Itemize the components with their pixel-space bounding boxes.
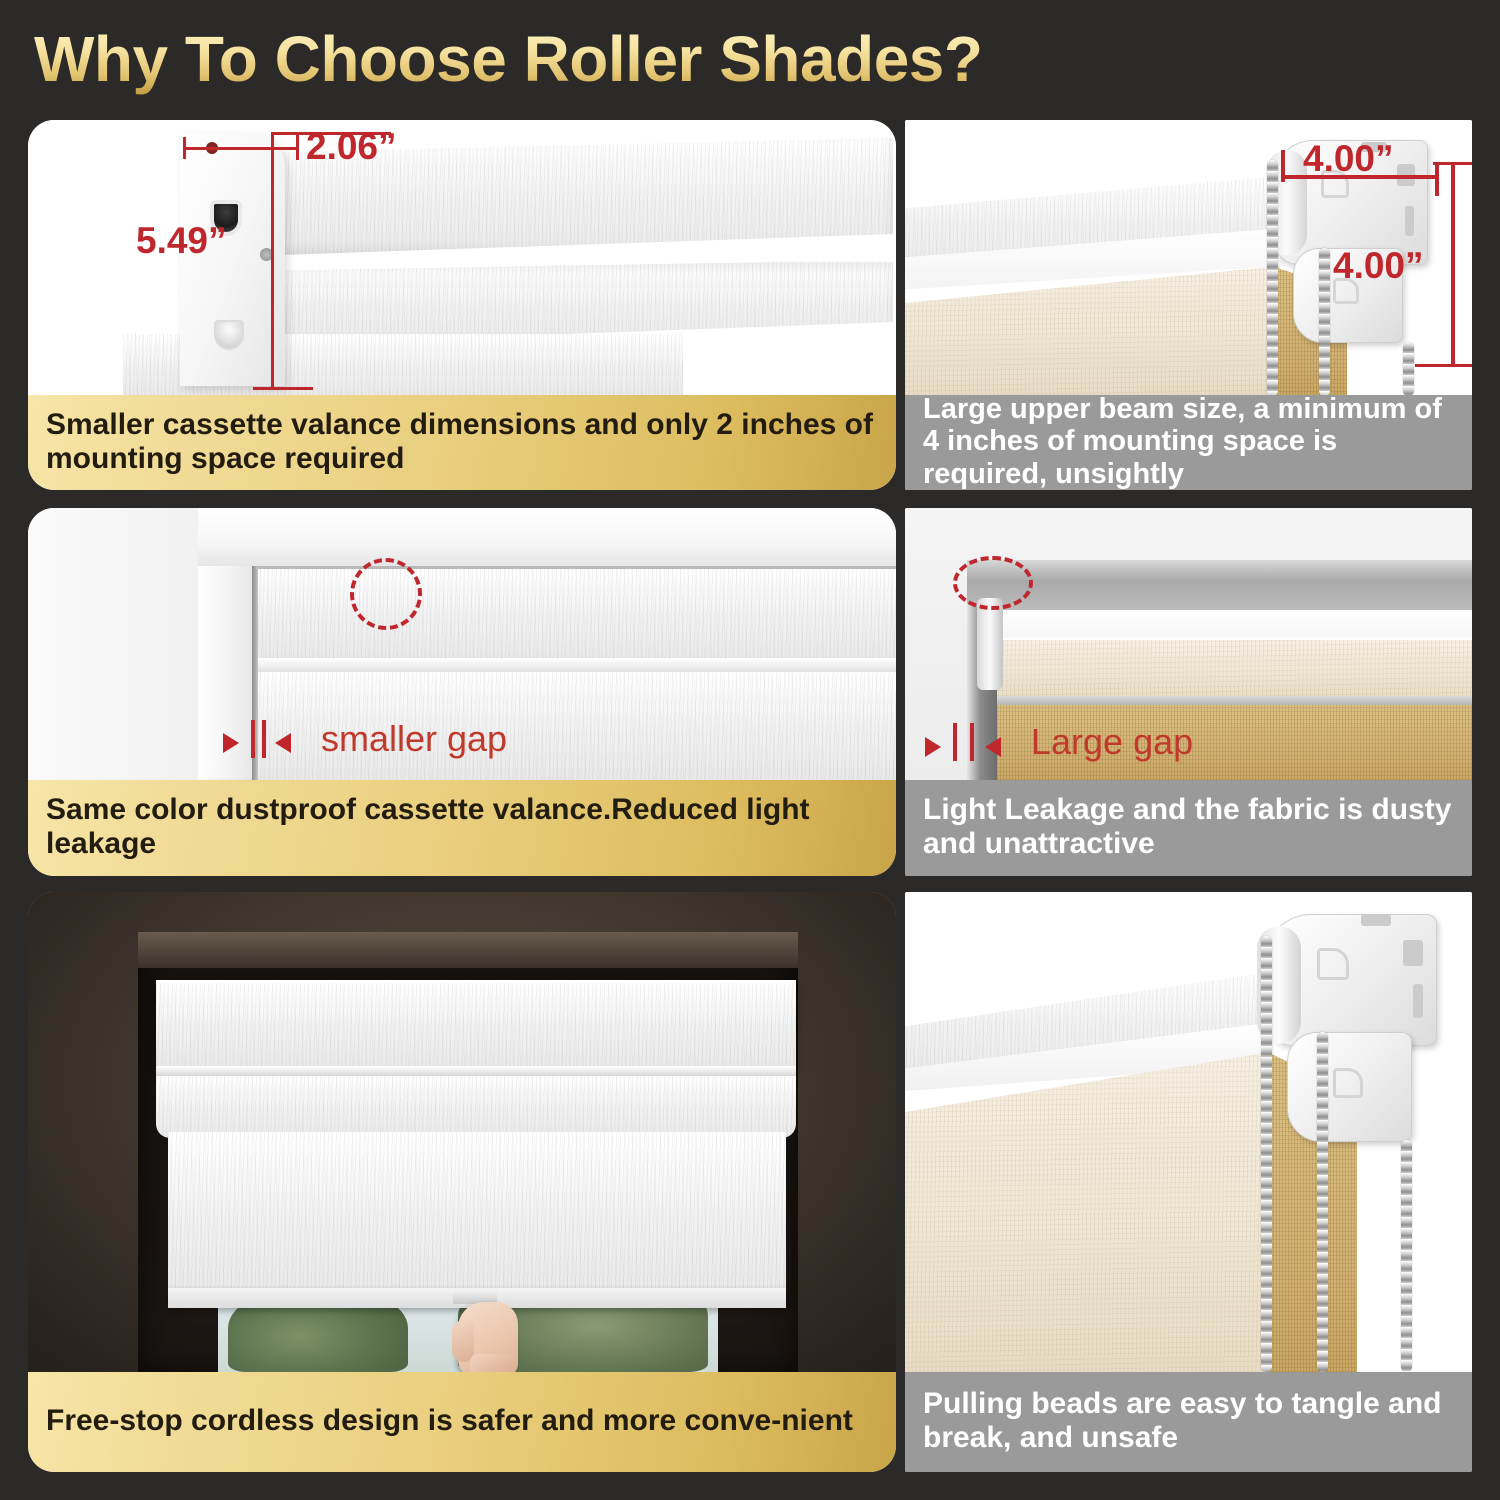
title-bar: Why To Choose Roller Shades? bbox=[0, 0, 1500, 110]
panel-3-left-photo bbox=[28, 892, 896, 1372]
gap-callout-label: smaller gap bbox=[321, 718, 507, 760]
window-casing-top bbox=[198, 508, 896, 566]
gap-arrow-right bbox=[925, 737, 941, 757]
right-height-tick-bottom bbox=[1415, 364, 1472, 367]
page-title: Why To Choose Roller Shades? bbox=[34, 22, 982, 96]
hand-thumb bbox=[452, 1320, 474, 1362]
valance-divider bbox=[156, 1066, 796, 1076]
gap-highlight-ring bbox=[350, 558, 422, 630]
valance-lip bbox=[256, 658, 896, 672]
bracket-slot-2 bbox=[1405, 206, 1414, 236]
panel-3-right: Pulling beads are easy to tangle and bre… bbox=[905, 892, 1472, 1472]
gap-highlight-ring bbox=[953, 556, 1033, 610]
gap-arrow-left bbox=[275, 733, 291, 753]
bracket-emblem-2 bbox=[1333, 1068, 1363, 1098]
panel-2-right-caption: Light Leakage and the fabric is dusty an… bbox=[905, 780, 1472, 876]
panel-1-right-photo: 4.00” 4.00” bbox=[905, 120, 1472, 395]
caption-text: Smaller cassette valance dimensions and … bbox=[46, 408, 878, 475]
caption-text: Large upper beam size, a minimum of 4 in… bbox=[923, 393, 1454, 490]
wall bbox=[28, 508, 218, 780]
height-dim-tick-bottom bbox=[253, 387, 313, 390]
window-recess-top-ledge bbox=[138, 932, 798, 968]
panel-1-left-caption: Smaller cassette valance dimensions and … bbox=[28, 395, 896, 490]
forearm bbox=[470, 1354, 514, 1372]
height-dim-line bbox=[271, 132, 274, 390]
width-dim-line bbox=[183, 147, 299, 150]
panel-2-left: smaller gap Same color dustproof cassett… bbox=[28, 508, 896, 876]
panel-3-right-photo bbox=[905, 892, 1472, 1372]
gap-arrow-right bbox=[223, 733, 239, 753]
top-width-dimension-label: 4.00” bbox=[1303, 138, 1394, 180]
width-dim-tick-right bbox=[296, 132, 299, 160]
panel-3-left-caption: Free-stop cordless design is safer and m… bbox=[28, 1372, 896, 1472]
height-dim-tick-top bbox=[271, 132, 391, 135]
bead-chain-2 bbox=[1319, 248, 1330, 395]
panel-3-right-caption: Pulling beads are easy to tangle and bre… bbox=[905, 1372, 1472, 1472]
gap-arrow-left bbox=[985, 737, 1001, 757]
panel-3-left: Free-stop cordless design is safer and m… bbox=[28, 892, 896, 1472]
right-height-dim-line bbox=[1451, 162, 1455, 367]
caption-text: Pulling beads are easy to tangle and bre… bbox=[923, 1387, 1454, 1454]
bracket-emblem-1 bbox=[1317, 948, 1349, 980]
top-width-tick-left bbox=[1281, 150, 1285, 182]
right-height-tick-top bbox=[1433, 162, 1472, 165]
panel-1-right: 4.00” 4.00” Large upper beam size, a min… bbox=[905, 120, 1472, 490]
gap-tick-b bbox=[262, 720, 266, 758]
valance-roll bbox=[156, 1076, 796, 1138]
panel-1-left: 2.06” 5.49” Smaller cassette valance dim… bbox=[28, 120, 896, 490]
cream-shade-fabric bbox=[905, 1052, 1271, 1372]
panel-2-right: Large gap Light Leakage and the fabric i… bbox=[905, 508, 1472, 876]
cassette-valance bbox=[156, 980, 796, 1068]
height-dimension-label: 5.49” bbox=[136, 220, 227, 262]
gap-tick-b bbox=[970, 723, 974, 761]
gap-tick-a bbox=[953, 723, 957, 761]
gap-tick-a bbox=[251, 720, 255, 758]
caption-text: Same color dustproof cassette valance.Re… bbox=[46, 793, 878, 860]
cream-fabric-roll bbox=[995, 638, 1472, 700]
panel-1-right-caption: Large upper beam size, a minimum of 4 in… bbox=[905, 395, 1472, 490]
panel-2-left-caption: Same color dustproof cassette valance.Re… bbox=[28, 780, 896, 876]
bead-chain-2 bbox=[1317, 1032, 1328, 1372]
panel-2-right-photo: Large gap bbox=[905, 508, 1472, 780]
width-dim-tick-left bbox=[183, 137, 186, 159]
bracket-slot-3 bbox=[1361, 914, 1391, 926]
top-width-tick-right bbox=[1435, 164, 1439, 196]
bead-chain-1 bbox=[1267, 160, 1278, 395]
bracket-slot-1 bbox=[1403, 940, 1423, 966]
end-cap-lower-knob bbox=[214, 320, 244, 350]
panel-1-left-photo: 2.06” 5.49” bbox=[28, 120, 896, 395]
right-height-dimension-label: 4.00” bbox=[1333, 245, 1424, 287]
bracket-slot-2 bbox=[1413, 984, 1423, 1018]
shade-fabric-main bbox=[168, 1132, 786, 1294]
gap-callout-label: Large gap bbox=[1031, 721, 1193, 763]
bead-chain-3 bbox=[1401, 1140, 1412, 1372]
upper-beam-gray bbox=[967, 560, 1472, 612]
caption-text: Free-stop cordless design is safer and m… bbox=[46, 1404, 878, 1438]
panel-2-left-photo: smaller gap bbox=[28, 508, 896, 780]
bead-chain-1 bbox=[1261, 936, 1272, 1372]
bead-chain-3 bbox=[1403, 342, 1414, 395]
roller-mechanism bbox=[977, 598, 1003, 690]
caption-text: Light Leakage and the fabric is dusty an… bbox=[923, 793, 1454, 860]
